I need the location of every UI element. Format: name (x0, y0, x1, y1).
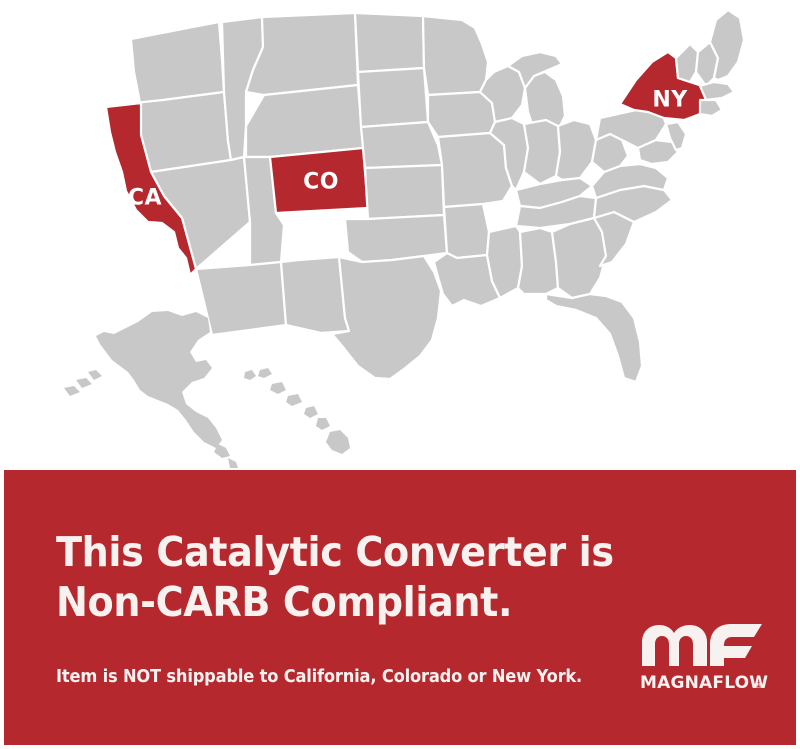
state-nebraska (361, 122, 442, 168)
state-label-ca: CA (128, 186, 162, 211)
non-carb-compliant-banner: This Catalytic Converter is Non-CARB Com… (4, 470, 796, 745)
state-iowa (428, 92, 495, 137)
state-south-dakota (358, 68, 428, 127)
us-map-panel: CA CO (0, 0, 800, 470)
united-states-map: CA CO (0, 0, 800, 470)
banner-subline: Item is NOT shippable to California, Col… (56, 667, 582, 687)
state-wyoming (246, 85, 363, 157)
headline-line-1: This Catalytic Converter is (56, 527, 633, 577)
state-label-ny: NY (652, 88, 688, 113)
banner-headline: This Catalytic Converter is Non-CARB Com… (56, 527, 633, 627)
state-washington (131, 22, 224, 103)
state-ohio (556, 120, 596, 180)
state-montana (246, 13, 358, 95)
state-indiana (524, 120, 560, 184)
magnaflow-logo-svg: MAGNAFLOW ® (638, 618, 768, 696)
headline-line-2: Non-CARB Compliant. (56, 577, 633, 627)
magnaflow-wordmark: MAGNAFLOW (640, 673, 768, 693)
state-arizona (196, 262, 286, 335)
state-florida (546, 294, 642, 382)
state-minnesota (423, 16, 488, 95)
state-connecticut-rhode-island (700, 100, 722, 116)
magnaflow-monogram-icon (642, 624, 762, 666)
state-georgia (552, 218, 606, 298)
inset-hawaii (244, 368, 350, 454)
state-arkansas (444, 204, 489, 258)
state-vermont (676, 44, 698, 82)
carb-compliance-notice: CA CO (0, 0, 800, 749)
state-label-co: CO (303, 170, 339, 195)
state-north-dakota (355, 13, 424, 72)
state-massachusetts (700, 82, 734, 100)
state-new-mexico (281, 257, 349, 333)
state-texas (332, 256, 441, 379)
state-kansas (365, 165, 444, 219)
registered-trademark-icon: ® (754, 681, 763, 691)
magnaflow-logo: MAGNAFLOW ® (638, 618, 768, 696)
state-maine (710, 10, 744, 80)
state-oklahoma (345, 215, 447, 262)
state-missouri (438, 133, 512, 207)
